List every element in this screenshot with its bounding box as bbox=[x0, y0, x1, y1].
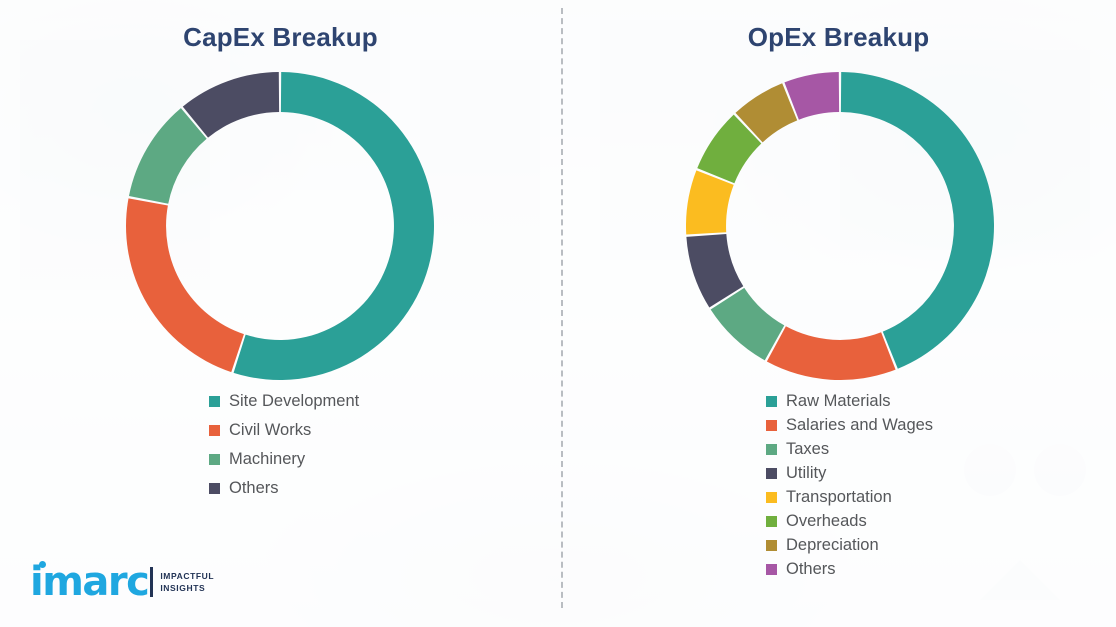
legend-swatch-icon bbox=[209, 425, 220, 436]
opex-donut-svg bbox=[686, 72, 994, 380]
donut-slice[interactable] bbox=[841, 72, 994, 369]
legend-item-label: Machinery bbox=[229, 450, 305, 469]
legend-item[interactable]: Civil Works bbox=[209, 421, 359, 440]
legend-item[interactable]: Site Development bbox=[209, 392, 359, 411]
legend-swatch-icon bbox=[766, 420, 777, 431]
legend-item[interactable]: Salaries and Wages bbox=[766, 416, 933, 435]
logo-tagline-line2: INSIGHTS bbox=[160, 582, 214, 594]
imarc-logo: imarc IMPACTFUL INSIGHTS bbox=[30, 562, 214, 602]
logo-wordmark: imarc bbox=[30, 562, 148, 602]
opex-title: OpEx Breakup bbox=[561, 22, 1116, 53]
donut-slice[interactable] bbox=[234, 72, 434, 380]
donut-slice[interactable] bbox=[767, 326, 896, 380]
opex-slice-group bbox=[686, 72, 994, 380]
legend-item-label: Taxes bbox=[786, 440, 829, 459]
legend-item-label: Site Development bbox=[229, 392, 359, 411]
legend-item-label: Salaries and Wages bbox=[786, 416, 933, 435]
legend-item[interactable]: Others bbox=[209, 479, 359, 498]
legend-swatch-icon bbox=[766, 396, 777, 407]
legend-item[interactable]: Taxes bbox=[766, 440, 933, 459]
capex-legend: Site Development Civil Works Machinery O… bbox=[209, 392, 359, 508]
legend-swatch-icon bbox=[766, 540, 777, 551]
legend-swatch-icon bbox=[766, 516, 777, 527]
legend-item[interactable]: Transportation bbox=[766, 488, 933, 507]
legend-item-label: Transportation bbox=[786, 488, 892, 507]
legend-item[interactable]: Utility bbox=[766, 464, 933, 483]
legend-swatch-icon bbox=[209, 396, 220, 407]
capex-panel: CapEx Breakup Site Development Civil Wor… bbox=[0, 0, 561, 627]
logo-divider-bar bbox=[150, 567, 153, 597]
opex-donut-chart bbox=[686, 72, 994, 380]
legend-swatch-icon bbox=[209, 454, 220, 465]
legend-item[interactable]: Depreciation bbox=[766, 536, 933, 555]
donut-slice[interactable] bbox=[129, 108, 207, 204]
legend-item[interactable]: Raw Materials bbox=[766, 392, 933, 411]
logo-dot-icon bbox=[39, 561, 46, 568]
capex-title: CapEx Breakup bbox=[0, 22, 561, 53]
legend-item-label: Others bbox=[786, 560, 836, 579]
legend-swatch-icon bbox=[766, 492, 777, 503]
legend-item-label: Others bbox=[229, 479, 279, 498]
legend-item[interactable]: Others bbox=[766, 560, 933, 579]
legend-item-label: Civil Works bbox=[229, 421, 311, 440]
legend-swatch-icon bbox=[766, 468, 777, 479]
logo-tagline: IMPACTFUL INSIGHTS bbox=[160, 570, 214, 595]
opex-panel: OpEx Breakup Raw Materials Salaries and … bbox=[561, 0, 1116, 627]
capex-donut-chart bbox=[126, 72, 434, 380]
capex-donut-svg bbox=[126, 72, 434, 380]
legend-item[interactable]: Overheads bbox=[766, 512, 933, 531]
legend-item-label: Depreciation bbox=[786, 536, 879, 555]
legend-swatch-icon bbox=[766, 444, 777, 455]
opex-legend: Raw Materials Salaries and Wages Taxes U… bbox=[766, 392, 933, 584]
legend-swatch-icon bbox=[209, 483, 220, 494]
legend-item-label: Utility bbox=[786, 464, 826, 483]
donut-slice[interactable] bbox=[126, 198, 244, 372]
capex-slice-group bbox=[126, 72, 434, 380]
legend-item-label: Overheads bbox=[786, 512, 867, 531]
legend-swatch-icon bbox=[766, 564, 777, 575]
legend-item[interactable]: Machinery bbox=[209, 450, 359, 469]
logo-tagline-line1: IMPACTFUL bbox=[160, 570, 214, 582]
legend-item-label: Raw Materials bbox=[786, 392, 891, 411]
